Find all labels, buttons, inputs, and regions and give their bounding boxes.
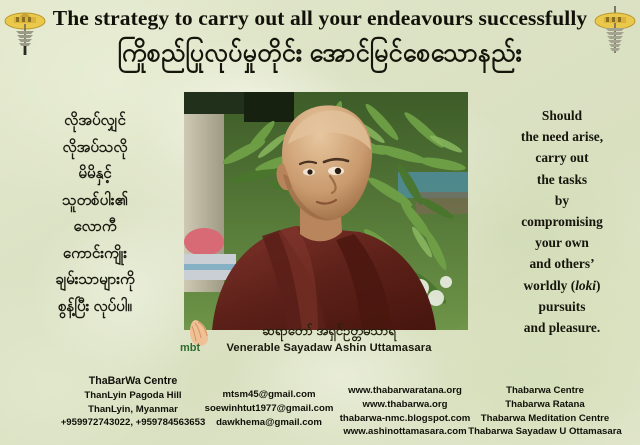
verse-line: the tasks: [488, 169, 636, 190]
verse-line: and others’: [488, 253, 636, 274]
verse-line: သူတစ်ပါး၏: [6, 188, 184, 215]
verse-english: Should the need arise, carry out the tas…: [488, 105, 636, 338]
page-title: The strategy to carry out all your endea…: [40, 6, 600, 31]
email-address[interactable]: mtsm45@gmail.com: [196, 388, 342, 402]
poster-header: The strategy to carry out all your endea…: [0, 0, 640, 88]
caption-english: Venerable Sayadaw Ashin Uttamasara: [184, 340, 474, 356]
portrait-photo-image: [184, 92, 468, 330]
verse-line: Should: [488, 105, 636, 126]
portrait-photo: [184, 92, 468, 330]
verse-line: လိုအပ်လျှင်: [6, 108, 184, 135]
centre-name: ThaBarWa Centre: [38, 375, 228, 389]
page-subtitle-burmese: ကြိုစည်ပြုလုပ်မှုတိုင်း အောင်မြင်စေသောနည…: [0, 37, 640, 74]
verse-line: လိုအပ်သလို: [6, 135, 184, 162]
facebook-page-name[interactable]: Thabarwa Ratana: [452, 398, 638, 412]
email-address[interactable]: soewinhtut1977@gmail.com: [196, 402, 342, 416]
photo-caption: ဆရာတော် အရှင်ဥတ္တမသာရ Venerable Sayadaw …: [184, 322, 474, 356]
loki-italic: loki: [575, 278, 596, 293]
verse-line: ချမ်းသာများကို: [6, 267, 184, 294]
verse-line: the need arise,: [488, 126, 636, 147]
verse-burmese: လိုအပ်လျှင် လိုအပ်သလို မိမိနှင့် သူတစ်ပါ…: [6, 108, 184, 320]
verse-line: your own: [488, 232, 636, 253]
footer-facebook-list: Thabarwa Centre Thabarwa Ratana Thabarwa…: [452, 384, 638, 439]
facebook-page-name[interactable]: Thabarwa Centre: [452, 384, 638, 398]
verse-line: and pleasure.: [488, 317, 636, 338]
verse-line: by: [488, 190, 636, 211]
verse-line-loki: worldly (loki): [488, 275, 636, 296]
facebook-page-name[interactable]: Thabarwa Meditation Centre: [452, 412, 638, 426]
poster-footer: ThaBarWa Centre ThanLyin Pagoda Hill Tha…: [0, 375, 640, 445]
verse-line: စွန့်ပြီး လုပ်ပါ။: [6, 294, 184, 321]
verse-line: ကောင်းကျိုး: [6, 241, 184, 268]
verse-line: pursuits: [488, 296, 636, 317]
email-address[interactable]: dawkhema@gmail.com: [196, 416, 342, 430]
footer-email-list: mtsm45@gmail.com soewinhtut1977@gmail.co…: [196, 388, 342, 429]
verse-line: လောကီ: [6, 214, 184, 241]
caption-burmese: ဆရာတော် အရှင်ဥတ္တမသာရ: [184, 322, 474, 340]
poster-canvas: The strategy to carry out all your endea…: [0, 0, 640, 445]
verse-line: မိမိနှင့်: [6, 161, 184, 188]
verse-line: carry out: [488, 147, 636, 168]
facebook-page-name[interactable]: Thabarwa Sayadaw U Ottamasara: [452, 425, 638, 439]
verse-line: compromising: [488, 211, 636, 232]
